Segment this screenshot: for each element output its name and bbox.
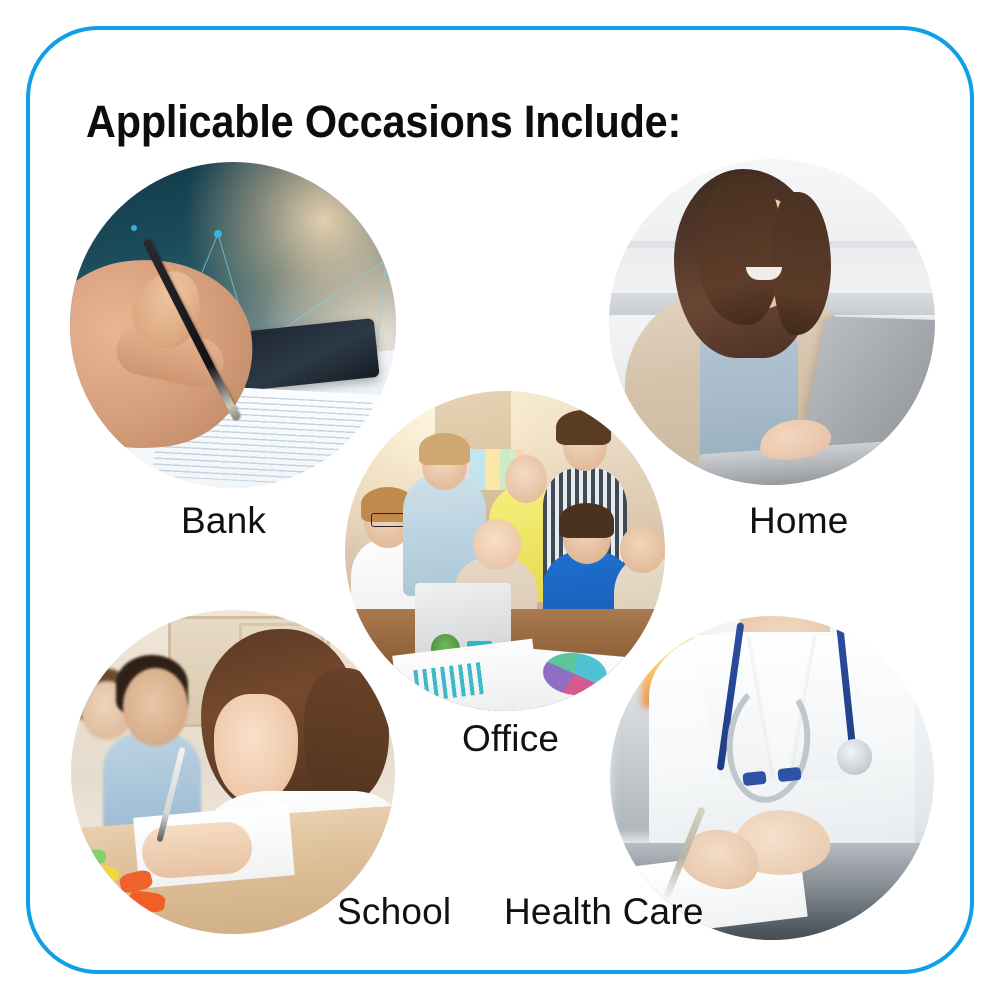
occasion-label-bank: Bank bbox=[181, 500, 266, 542]
occasion-label-health-care: Health Care bbox=[504, 891, 704, 933]
girl-ponytail bbox=[304, 668, 388, 804]
stethoscope-connector-left bbox=[742, 770, 766, 785]
person-7-head bbox=[473, 519, 521, 570]
infographic-canvas: Applicable Occasions Include: bbox=[0, 0, 1000, 1000]
person-5-hair bbox=[559, 503, 613, 538]
hair-front bbox=[697, 175, 782, 325]
child-2-head bbox=[123, 668, 188, 746]
person-2-hair bbox=[419, 433, 470, 465]
girl-arm bbox=[141, 820, 255, 879]
page-title: Applicable Occasions Include: bbox=[86, 96, 681, 148]
occasion-label-home: Home bbox=[749, 500, 849, 542]
smile bbox=[746, 267, 782, 280]
stethoscope-chestpiece bbox=[837, 739, 873, 775]
person-4-hair bbox=[556, 410, 610, 445]
occasion-image-school bbox=[71, 610, 395, 934]
occasion-label-school: School bbox=[337, 891, 451, 933]
person-3-head bbox=[505, 455, 547, 503]
occasion-label-office: Office bbox=[462, 718, 559, 760]
